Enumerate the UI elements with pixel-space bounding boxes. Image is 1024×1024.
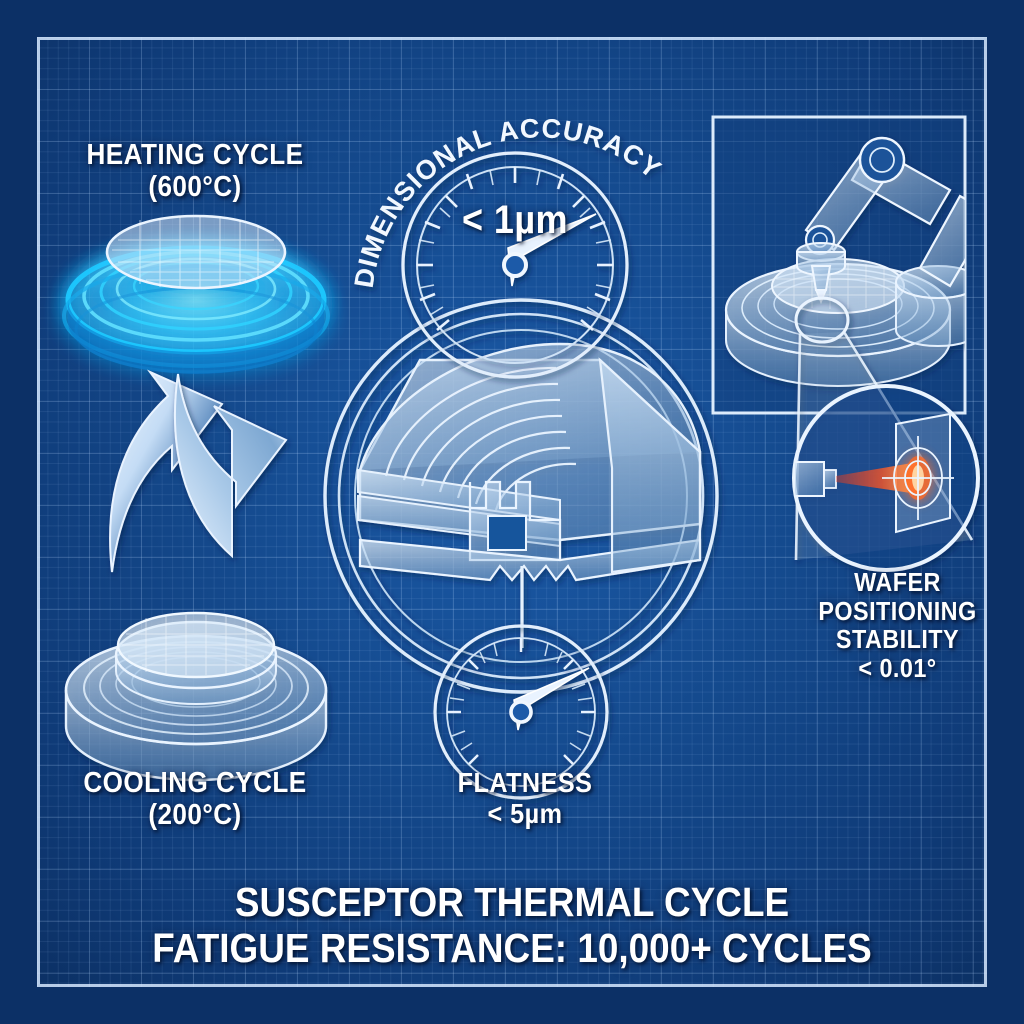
wafer-positioning-label: WAFER POSITIONING STABILITY < 0.01° xyxy=(801,568,995,682)
wafer-cooled xyxy=(118,613,274,677)
flatness-label: FLATNESS < 5µm xyxy=(395,768,656,830)
dimensional-accuracy-value: < 1µm xyxy=(416,198,614,242)
poster-title: SUSCEPTOR THERMAL CYCLEFATIGUE RESISTANC… xyxy=(107,880,917,972)
blueprint-poster: DIMENSIONAL ACCURACY xyxy=(0,0,1024,1024)
cooling-cycle-label: COOLING CYCLE (200°C) xyxy=(56,768,335,832)
wafer-heated xyxy=(107,216,285,288)
cooling-susceptor-illustration xyxy=(66,613,326,780)
title-line-2: FATIGUE RESISTANCE: 10,000+ CYCLES xyxy=(152,925,871,971)
heating-susceptor-illustration xyxy=(56,216,336,374)
dimensional-accuracy-gauge: DIMENSIONAL ACCURACY xyxy=(349,113,667,377)
heating-cycle-label: HEATING CYCLE (600°C) xyxy=(56,140,335,204)
susceptor-cross-section xyxy=(325,300,717,692)
title-line-1: SUSCEPTOR THERMAL CYCLE xyxy=(235,879,789,925)
